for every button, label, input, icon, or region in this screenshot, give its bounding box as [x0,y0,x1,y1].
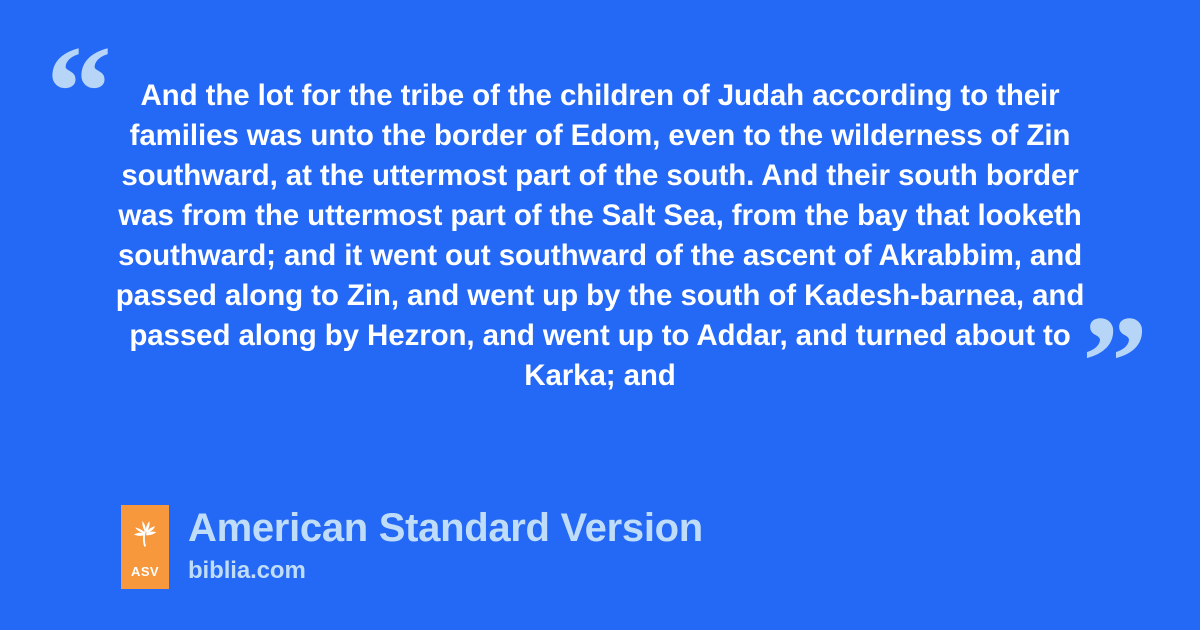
asv-logo: ASV [121,505,169,589]
quote-block: “ And the lot for the tribe of the child… [0,0,1200,450]
site-name: biblia.com [188,557,703,585]
brand-footer: ASV American Standard Version biblia.com [121,505,703,589]
quote-text: And the lot for the tribe of the childre… [115,76,1085,396]
wheat-sheaf-icon [128,516,162,550]
opening-quote-icon: “ [46,26,112,158]
brand-text-group: American Standard Version biblia.com [188,505,703,585]
quote-card: “ And the lot for the tribe of the child… [0,0,1200,630]
bible-version-title: American Standard Version [188,505,703,551]
closing-quote-icon: ” [1082,296,1148,428]
logo-abbreviation: ASV [121,565,169,578]
